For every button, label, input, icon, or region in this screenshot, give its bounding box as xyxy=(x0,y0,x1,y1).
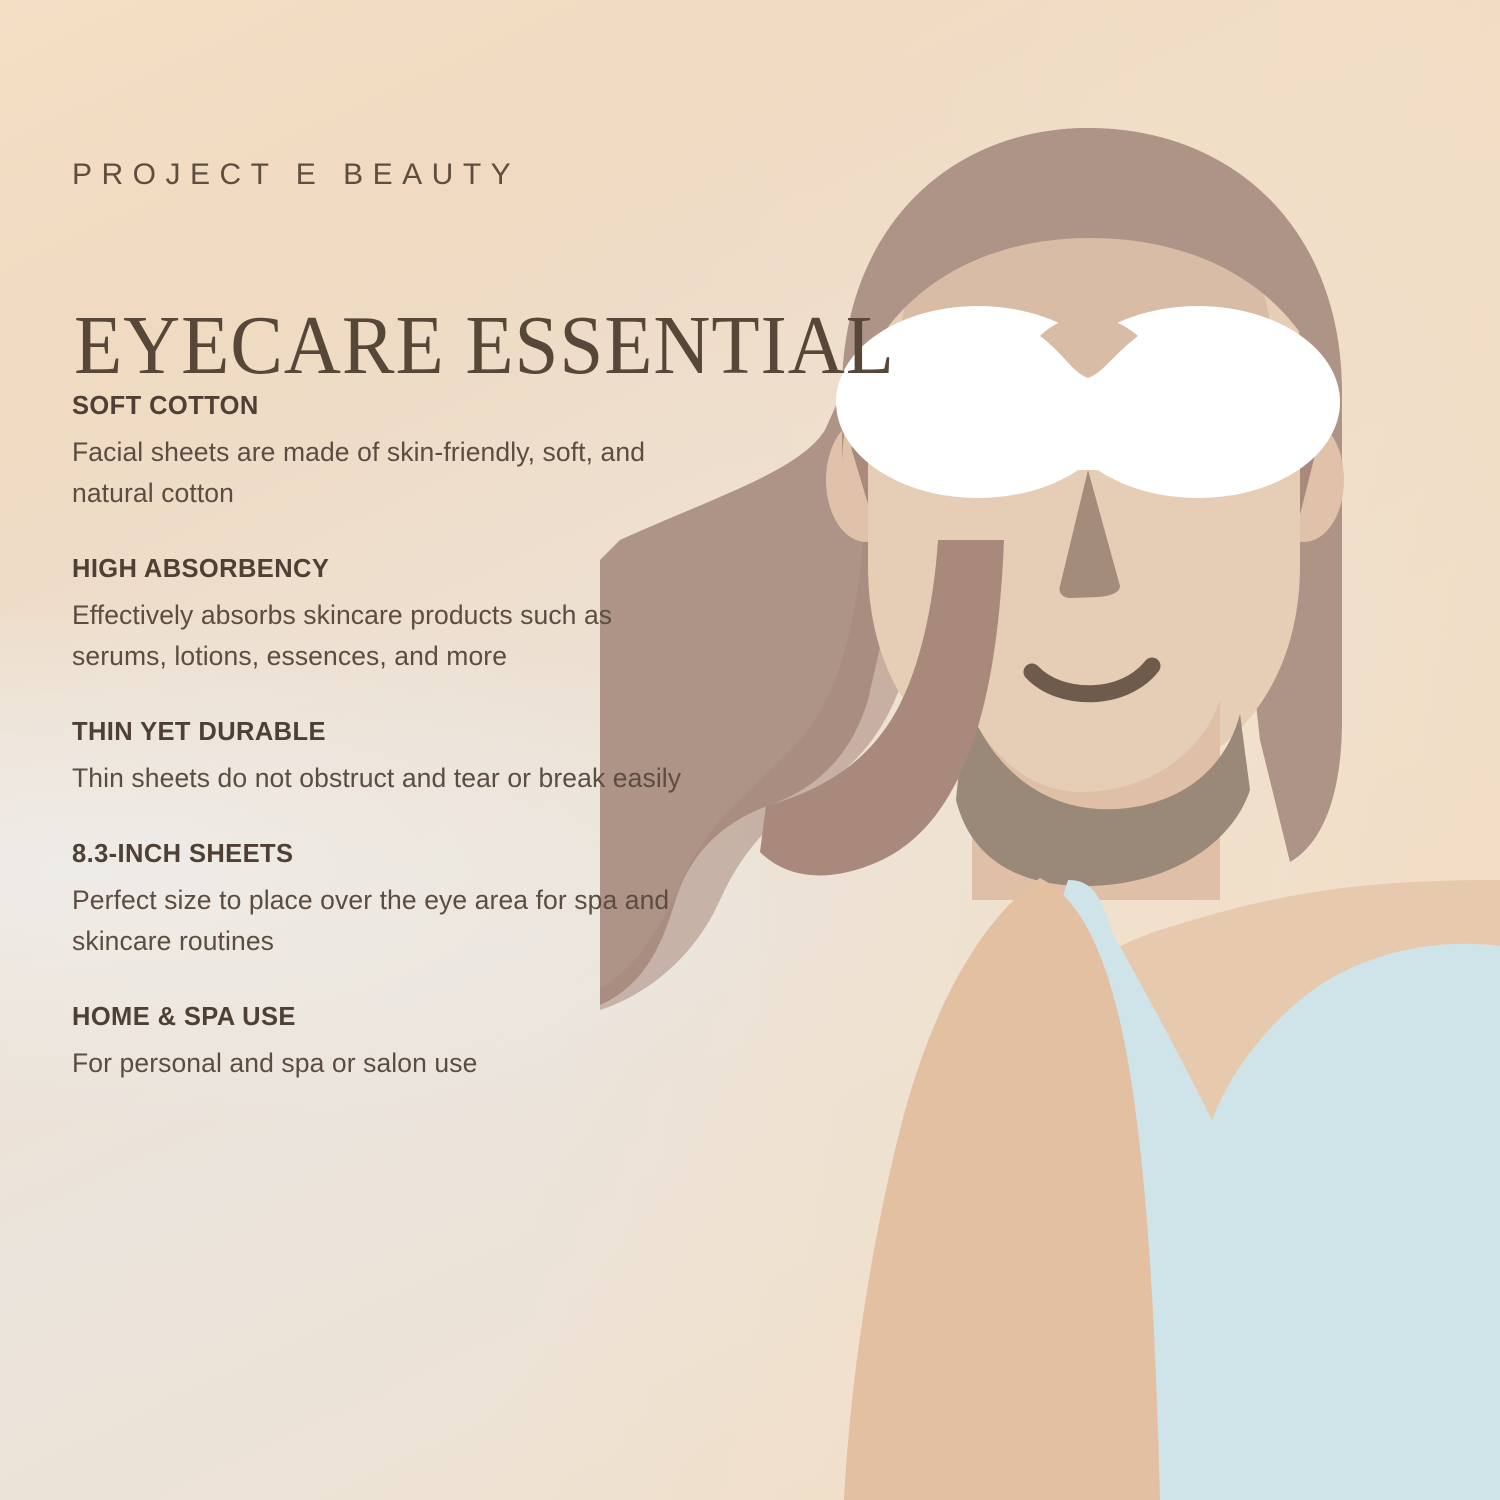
feature-item-thin-yet-durable: THIN YET DURABLE Thin sheets do not obst… xyxy=(72,718,732,799)
feature-description: Thin sheets do not obstruct and tear or … xyxy=(72,758,692,799)
eye-mask-sheets xyxy=(836,306,1340,498)
feature-description: Perfect size to place over the eye area … xyxy=(72,880,692,962)
feature-title: HIGH ABSORBENCY xyxy=(72,555,732,584)
feature-item-83-inch-sheets: 8.3-INCH SHEETS Perfect size to place ov… xyxy=(72,840,732,962)
brand-name: PROJECT E BEAUTY xyxy=(72,158,520,192)
woman-illustration xyxy=(600,0,1500,1500)
feature-title: HOME & SPA USE xyxy=(72,1003,732,1032)
feature-item-soft-cotton: SOFT COTTON Facial sheets are made of sk… xyxy=(72,392,732,514)
feature-title: 8.3-INCH SHEETS xyxy=(72,840,732,869)
page-title: EYECARE ESSENTIAL xyxy=(74,304,895,388)
feature-list: SOFT COTTON Facial sheets are made of sk… xyxy=(72,392,732,1085)
feature-item-home-and-spa-use: HOME & SPA USE For personal and spa or s… xyxy=(72,1003,732,1084)
product-infographic: PROJECT E BEAUTY EYECARE ESSENTIAL SOFT … xyxy=(0,0,1500,1500)
feature-description: Facial sheets are made of skin-friendly,… xyxy=(72,432,692,514)
feature-item-high-absorbency: HIGH ABSORBENCY Effectively absorbs skin… xyxy=(72,555,732,677)
feature-title: THIN YET DURABLE xyxy=(72,718,732,747)
feature-description: Effectively absorbs skincare products su… xyxy=(72,595,692,677)
feature-description: For personal and spa or salon use xyxy=(72,1043,692,1084)
feature-title: SOFT COTTON xyxy=(72,392,732,421)
